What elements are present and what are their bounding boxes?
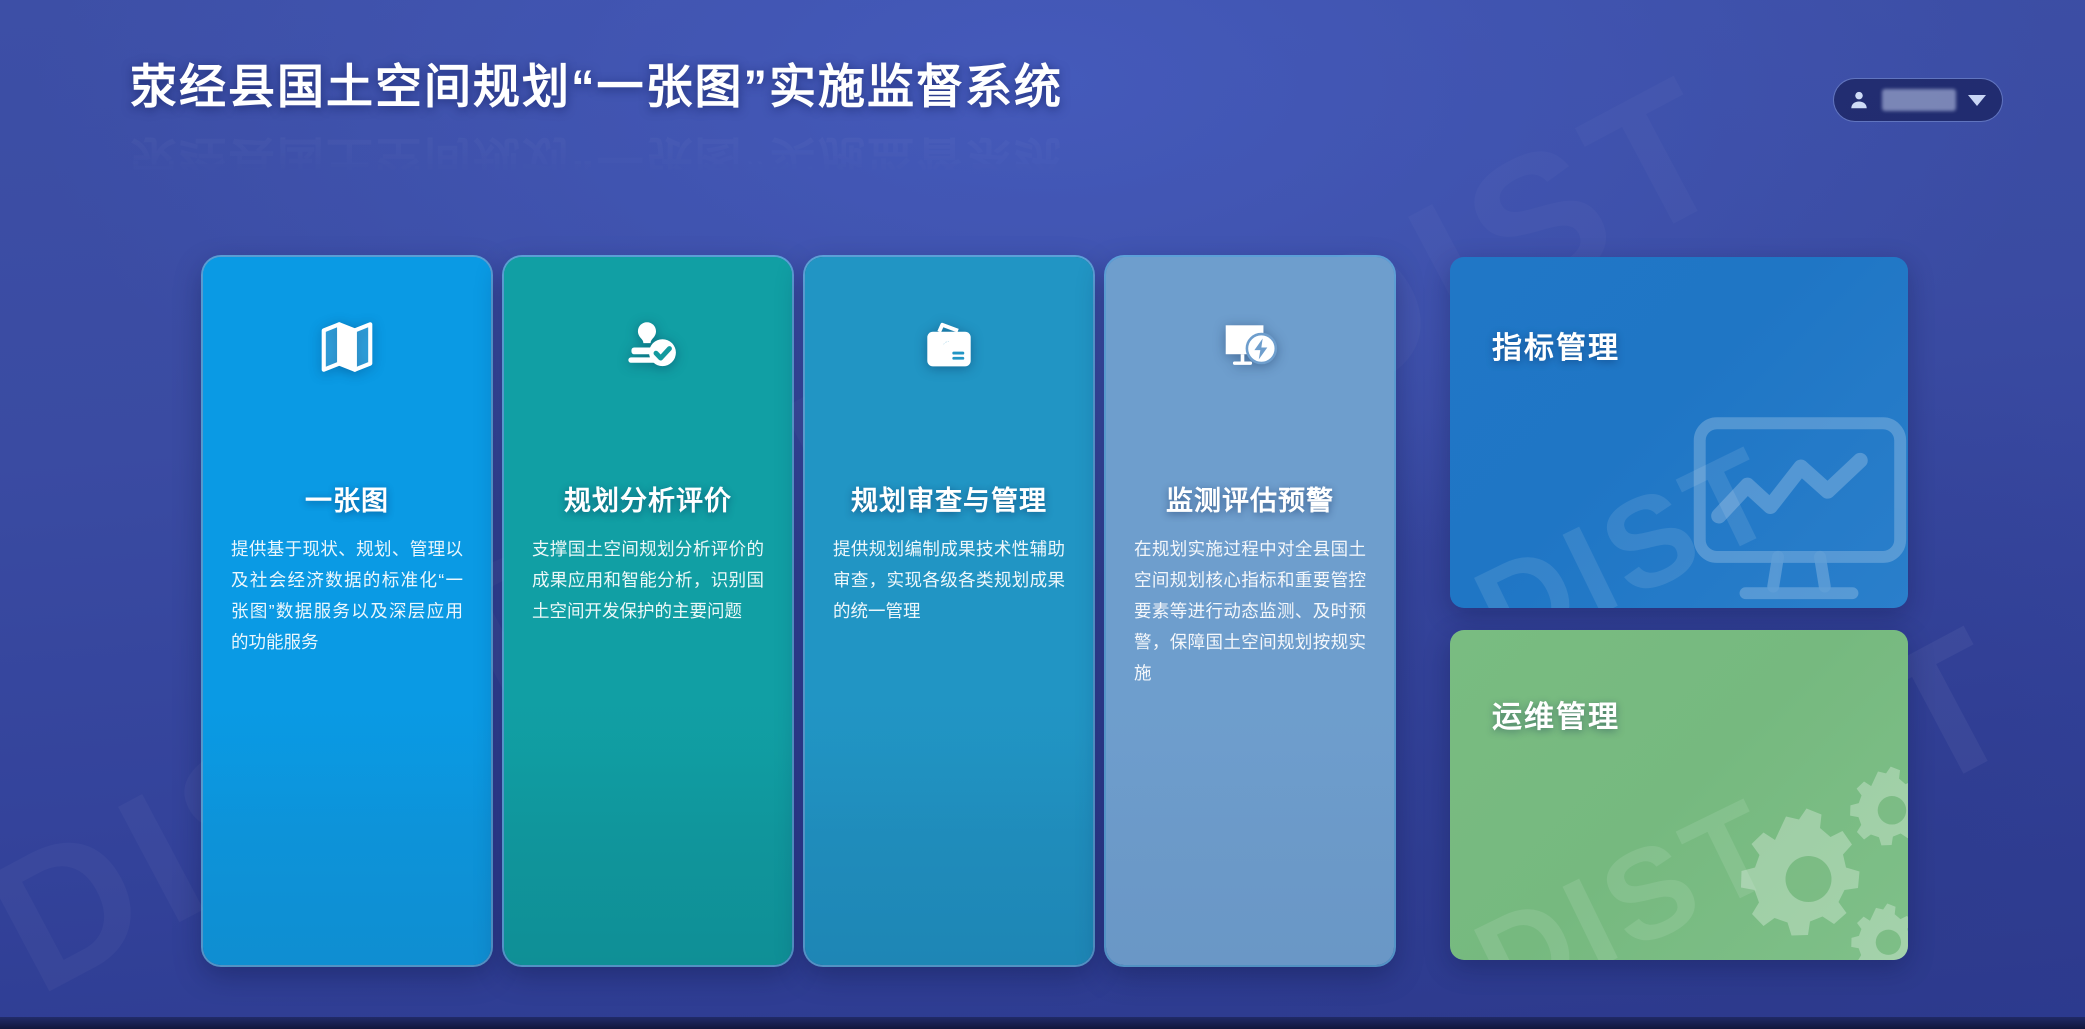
feature-card-one-map[interactable]: 一张图 提供基于现状、规划、管理以及社会经济数据的标准化“一张图”数据服务以及深… <box>203 257 491 965</box>
feature-card-list: 一张图 提供基于现状、规划、管理以及社会经济数据的标准化“一张图”数据服务以及深… <box>203 257 1394 965</box>
user-name-label <box>1882 89 1956 111</box>
briefcase-gear-icon <box>827 299 1071 395</box>
card-description: 提供规划编制成果技术性辅助审查，实现各级各类规划成果的统一管理 <box>827 534 1071 627</box>
panel-indicator-management[interactable]: 指标管理 DIST <box>1450 257 1908 608</box>
monitor-chart-icon <box>1684 408 1908 608</box>
card-title: 监测评估预警 <box>1128 479 1372 518</box>
feature-card-monitoring-warning[interactable]: 监测评估预警 在规划实施过程中对全县国土空间规划核心指标和重要管控要素等进行动态… <box>1106 257 1394 965</box>
card-description: 支撑国土空间规划分析评价的成果应用和智能分析，识别国土空间开发保护的主要问题 <box>526 534 770 627</box>
map-icon <box>225 299 469 395</box>
app-header: 荥经县国土空间规划“一张图”实施监督系统 荥经县国土空间规划“一张图”实施监督系… <box>0 0 2085 170</box>
card-title: 一张图 <box>225 479 469 518</box>
card-title: 规划审查与管理 <box>827 479 1071 518</box>
card-title: 规划分析评价 <box>526 479 770 518</box>
chevron-down-icon[interactable] <box>1968 95 1986 106</box>
panel-title: 运维管理 <box>1492 692 1620 736</box>
user-menu-button[interactable] <box>1833 78 2003 122</box>
gears-icon <box>1686 764 1908 960</box>
feature-card-planning-review[interactable]: 规划审查与管理 提供规划编制成果技术性辅助审查，实现各级各类规划成果的统一管理 <box>805 257 1093 965</box>
panel-title: 指标管理 <box>1492 323 1620 367</box>
right-panel-column: 指标管理 DIST 运维管理 DIST <box>1450 257 1908 960</box>
monitor-bolt-icon <box>1128 299 1372 395</box>
page-title: 荥经县国土空间规划“一张图”实施监督系统 <box>130 48 1063 117</box>
panel-operation-management[interactable]: 运维管理 DIST <box>1450 630 1908 960</box>
card-description: 在规划实施过程中对全县国土空间规划核心指标和重要管控要素等进行动态监测、及时预警… <box>1128 534 1372 689</box>
user-avatar-icon <box>1848 89 1870 111</box>
feature-card-planning-analysis[interactable]: 规划分析评价 支撑国土空间规划分析评价的成果应用和智能分析，识别国土空间开发保护… <box>504 257 792 965</box>
card-description: 提供基于现状、规划、管理以及社会经济数据的标准化“一张图”数据服务以及深层应用的… <box>225 534 469 658</box>
stamp-check-icon <box>526 299 770 395</box>
